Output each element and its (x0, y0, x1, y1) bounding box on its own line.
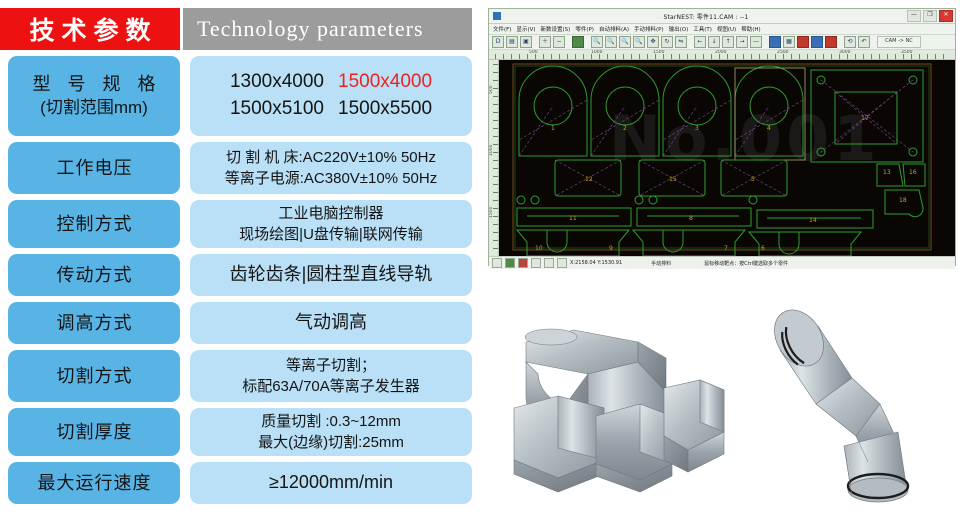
menu-item-auto-nest[interactable]: 自动排料(A) (599, 25, 629, 33)
ruler-tick (703, 54, 704, 59)
ruler-tick (493, 64, 498, 65)
title-english: Technology parameters (183, 8, 472, 50)
spec-value-line-2: 1500x5100 1500x5500 (230, 96, 432, 123)
ruler-tick (943, 54, 944, 59)
ruler-tick (493, 248, 498, 249)
toolbar-separator (839, 37, 842, 47)
lead-in-icon[interactable] (811, 36, 823, 48)
model-1500x5500: 1500x5500 (338, 96, 432, 123)
spec-label-main: 传动方式 (56, 263, 133, 287)
current-mode: 手动排料 (651, 260, 671, 267)
cad-window-title: StarNEST: 零件11.CAM : --1 (505, 12, 907, 21)
table-header-banner: 技术参数 Technology parameters (0, 8, 472, 50)
duct-products-illustration (488, 300, 956, 518)
align-left-icon[interactable]: ← (694, 36, 706, 48)
part-number: 9 (609, 245, 613, 252)
part-number: 15 (669, 176, 677, 183)
ruler-tick (493, 112, 498, 113)
spec-label-main: 控制方式 (56, 212, 133, 236)
model-1500x5100: 1500x5100 (230, 96, 324, 123)
zoom-window-icon[interactable]: 🔍 (619, 36, 631, 48)
ruler-tick (879, 54, 880, 59)
ruler-label: 3000 (839, 50, 850, 55)
ruler-tick (711, 54, 712, 59)
ruler-tick (519, 54, 520, 59)
toolbar-separator (689, 37, 692, 47)
ruler-tick (863, 54, 864, 59)
ruler-tick (807, 54, 808, 59)
rect-duct-taper-right (664, 380, 724, 472)
part-number: 4 (767, 125, 771, 132)
ruler-label: 3500 (901, 50, 912, 55)
cad-title-bar: StarNEST: 零件11.CAM : --1 — ❐ ✕ (489, 9, 955, 24)
ruler-tick (927, 54, 928, 59)
ruler-tick (791, 54, 792, 59)
part-number: 12 (585, 176, 593, 183)
ruler-label: 2500 (777, 50, 788, 55)
spec-value-line-2: 最大(边缘)切割:25mm (258, 432, 404, 453)
cad-toolbar: D ▤ ▣ ＋ − 🔍 🔍 🔍 🔍 ✥ ↻ ⇋ ← ↓ ↑ → — ▦ (489, 35, 955, 50)
ruler-label: 1000 (489, 145, 494, 156)
new-file-icon[interactable]: D (492, 36, 504, 48)
close-icon[interactable]: ✕ (939, 10, 953, 22)
part-number: 14 (809, 217, 817, 224)
spec-label-cell: 切割方式 (8, 350, 180, 402)
ruler-label: 2000 (715, 50, 726, 55)
menu-item-view[interactable]: 视图(U) (717, 25, 736, 33)
spec-label-sub: (切割范围mm) (40, 97, 148, 120)
zoom-out-icon[interactable]: 🔍 (605, 36, 617, 48)
ruler-tick (493, 80, 498, 81)
part-number: 13 (883, 169, 891, 176)
ruler-tick (831, 54, 832, 59)
menu-item-manual-nest[interactable]: 手动排料(P) (634, 25, 664, 33)
ruler-tick (855, 54, 856, 59)
status-icon-ortho[interactable] (531, 258, 541, 268)
spec-row-max-speed: 最大运行速度 ≥12000mm/min (0, 462, 472, 504)
part-number: 7 (724, 245, 728, 252)
ruler-tick (493, 104, 498, 105)
spec-value-cell: 1300x4000 1500x4000 1500x5100 1500x5500 (190, 56, 472, 136)
ruler-tick (559, 54, 560, 59)
model-1300x4000: 1300x4000 (230, 69, 324, 96)
ruler-tick (493, 224, 498, 225)
add-icon[interactable]: ＋ (539, 36, 551, 48)
zoom-in-icon[interactable]: 🔍 (591, 36, 603, 48)
part-number: 3 (695, 125, 699, 132)
ruler-tick (799, 54, 800, 59)
spec-row-transmission: 传动方式 齿轮齿条|圆柱型直线导轨 (0, 254, 472, 296)
align-right-icon[interactable]: → (736, 36, 748, 48)
ruler-tick (493, 120, 498, 121)
toolbar-separator (567, 37, 570, 47)
spec-row-height-adjust: 调高方式 气动调高 (0, 302, 472, 344)
align-down-icon[interactable]: ↓ (708, 36, 720, 48)
cad-software-window: StarNEST: 零件11.CAM : --1 — ❐ ✕ 文件(F) 显示(… (488, 8, 956, 266)
ruler-tick (511, 54, 512, 59)
ruler-tick (493, 72, 498, 73)
open-file-icon[interactable]: ▤ (506, 36, 518, 48)
cam-to-nc-button[interactable]: CAM -> NC (877, 36, 921, 48)
spec-label-cell: 控制方式 (8, 200, 180, 248)
ruler-tick (695, 54, 696, 59)
menu-item-tools[interactable]: 工具(T) (693, 25, 712, 33)
status-icon-zoom[interactable] (557, 258, 567, 268)
menu-item-new-settings[interactable]: 新数设置(S) (541, 25, 571, 33)
spec-value-cell: 切 割 机 床:AC220V±10% 50Hz 等离子电源:AC380V±10%… (190, 142, 472, 194)
spec-value-line-2: 等离子电源:AC380V±10% 50Hz (225, 168, 437, 189)
minimize-icon[interactable]: — (907, 10, 921, 22)
spec-value-line-1: 工业电脑控制器 (278, 203, 383, 224)
status-icon-grid[interactable] (505, 258, 515, 268)
spec-value-cell: 质量切割 :0.3~12mm 最大(边缘)切割:25mm (190, 408, 472, 456)
spec-row-cutting-thickness: 切割厚度 质量切割 :0.3~12mm 最大(边缘)切割:25mm (0, 408, 472, 456)
ruler-tick (727, 54, 728, 59)
ruler-tick (493, 136, 498, 137)
ruler-tick (767, 54, 768, 59)
align-up-icon[interactable]: ↑ (722, 36, 734, 48)
spec-sheet-page: 技术参数 Technology parameters 型 号 规 格 (切割范围… (0, 0, 960, 524)
ruler-tick (493, 96, 498, 97)
ruler-tick (493, 192, 498, 193)
toolbar-separator (764, 37, 767, 47)
ruler-tick (493, 128, 498, 129)
nest-array-icon[interactable] (769, 36, 781, 48)
rotate-icon[interactable]: ↻ (661, 36, 673, 48)
cad-status-bar: X:2158.04 Y:1530.91 手动排料 鼠标移动靶点：按Ctrl键选取… (489, 256, 955, 269)
status-icon-snap[interactable] (518, 258, 528, 268)
ruler-tick (495, 54, 496, 59)
spec-row-model: 型 号 规 格 (切割范围mm) 1300x4000 1500x4000 150… (0, 56, 472, 136)
spec-label-cell: 工作电压 (8, 142, 180, 194)
measure-icon[interactable]: ⟲ (844, 36, 856, 48)
ruler-tick (493, 200, 498, 201)
ruler-tick (775, 54, 776, 59)
spec-value-cell: 气动调高 (190, 302, 472, 344)
spec-label-cell: 调高方式 (8, 302, 180, 344)
ruler-tick (639, 54, 640, 59)
ruler-tick (759, 54, 760, 59)
menu-item-file[interactable]: 文件(F) (493, 25, 511, 33)
ruler-tick (887, 54, 888, 59)
spec-label-cell: 切割厚度 (8, 408, 180, 456)
horizontal-ruler: 500100015002000250030003500 (489, 50, 955, 60)
ruler-tick (607, 54, 608, 59)
ruler-tick (871, 54, 872, 59)
toolbar-separator (586, 37, 589, 47)
spec-value-line-1: ≥12000mm/min (269, 470, 393, 495)
part-color-icon[interactable] (797, 36, 809, 48)
ruler-tick (679, 54, 680, 59)
ruler-tick (895, 54, 896, 59)
rect-duct-square-center (596, 404, 672, 492)
spec-label-main: 切割厚度 (56, 420, 133, 444)
ruler-label: 1500 (489, 207, 494, 218)
ruler-label: 1000 (591, 50, 602, 55)
remove-icon[interactable]: − (553, 36, 565, 48)
part-number: 8 (689, 215, 693, 222)
maximize-icon[interactable]: ❐ (923, 10, 937, 22)
window-controls: — ❐ ✕ (907, 10, 953, 22)
ruler-tick (567, 54, 568, 59)
part-number: 5 (751, 176, 755, 183)
part-number: 6 (761, 245, 765, 252)
ruler-tick (671, 54, 672, 59)
menu-item-help[interactable]: 帮助(H) (741, 25, 760, 33)
vertical-ruler: 50010001500 (489, 60, 499, 256)
ruler-tick (623, 54, 624, 59)
spec-label-main: 切割方式 (56, 364, 133, 388)
toolbar-separator (872, 37, 875, 47)
spec-label-main: 调高方式 (56, 311, 133, 335)
ruler-label: 500 (489, 85, 494, 94)
ruler-label: 500 (529, 50, 538, 55)
cad-menu-bar: 文件(F) 显示(V) 新数设置(S) 零件(P) 自动排料(A) 手动排料(P… (489, 24, 955, 35)
ruler-tick (751, 54, 752, 59)
ruler-tick (615, 54, 616, 59)
ruler-label: 1500 (653, 50, 664, 55)
part-number: 17 (861, 115, 869, 122)
ruler-tick (493, 232, 498, 233)
spec-label-main: 最大运行速度 (37, 471, 152, 495)
round-duct-elbow (764, 301, 908, 502)
ruler-tick (743, 54, 744, 59)
ruler-tick (687, 54, 688, 59)
specification-panel: 技术参数 Technology parameters 型 号 规 格 (切割范围… (0, 0, 482, 524)
grid-icon[interactable]: ▦ (783, 36, 795, 48)
spec-label-cell: 传动方式 (8, 254, 180, 296)
menu-item-part[interactable]: 零件(P) (575, 25, 594, 33)
status-icon-osnap[interactable] (544, 258, 554, 268)
zoom-fit-icon[interactable]: 🔍 (633, 36, 645, 48)
part-number: 16 (909, 169, 917, 176)
lead-out-icon[interactable] (825, 36, 837, 48)
toolbar-separator (534, 37, 537, 47)
pan-icon[interactable]: ✥ (647, 36, 659, 48)
part-number: 18 (899, 197, 907, 204)
ruler-tick (493, 240, 498, 241)
ruler-tick (493, 184, 498, 185)
rect-duct-square-left (514, 396, 604, 492)
ruler-tick (631, 54, 632, 59)
spec-value-line-1: 气动调高 (295, 310, 367, 335)
cad-workspace: 50010001500 No.001 (489, 60, 955, 256)
ruler-tick (919, 54, 920, 59)
spec-value-cell: 等离子切割； 标配63A/70A等离子发生器 (190, 350, 472, 402)
ruler-tick (647, 54, 648, 59)
spec-value-line-1: 切 割 机 床:AC220V±10% 50Hz (226, 147, 436, 168)
spec-value-line-2: 标配63A/70A等离子发生器 (242, 376, 420, 397)
ruler-tick (735, 54, 736, 59)
ruler-tick (493, 160, 498, 161)
ruler-tick (493, 168, 498, 169)
spec-value-line-1: 齿轮齿条|圆柱型直线导轨 (230, 262, 433, 287)
spec-row-cutting-method: 切割方式 等离子切割； 标配63A/70A等离子发生器 (0, 350, 472, 402)
undo-icon[interactable]: ↶ (858, 36, 870, 48)
spec-row-control: 控制方式 工业电脑控制器 现场绘图|U盘传输|联网传输 (0, 200, 472, 248)
spec-rows: 型 号 规 格 (切割范围mm) 1300x4000 1500x4000 150… (0, 56, 472, 510)
product-photos (488, 300, 956, 518)
spec-value-cell: 齿轮齿条|圆柱型直线导轨 (190, 254, 472, 296)
mirror-icon[interactable]: ⇋ (675, 36, 687, 48)
sheet-icon[interactable] (572, 36, 584, 48)
spec-value-line-1: 质量切割 :0.3~12mm (261, 411, 401, 432)
status-hint: 鼠标移动靶点：按Ctrl键选取多个零件 (704, 260, 788, 267)
spec-row-voltage: 工作电压 切 割 机 床:AC220V±10% 50Hz 等离子电源:AC380… (0, 142, 472, 194)
spec-value-cell: 工业电脑控制器 现场绘图|U盘传输|联网传输 (190, 200, 472, 248)
ruler-tick (493, 176, 498, 177)
spec-value-line-2: 现场绘图|U盘传输|联网传输 (239, 224, 423, 245)
save-file-icon[interactable]: ▣ (520, 36, 532, 48)
cad-canvas[interactable]: No.001 (499, 60, 955, 256)
spec-label-main: 工作电压 (56, 156, 133, 180)
spec-value-line-1: 等离子切割； (286, 355, 376, 376)
ruler-tick (527, 54, 528, 59)
ruler-tick (935, 54, 936, 59)
ruler-tick (823, 54, 824, 59)
menu-item-display[interactable]: 显示(V) (516, 25, 535, 33)
app-icon (493, 12, 501, 20)
part-number: 1 (551, 125, 555, 132)
title-chinese: 技术参数 (0, 8, 180, 50)
ruler-tick (503, 54, 504, 59)
ruler-tick (551, 54, 552, 59)
menu-item-output[interactable]: 输出(O) (669, 25, 689, 33)
ruler-tick (815, 54, 816, 59)
ruler-tick (543, 54, 544, 59)
part-number: 11 (569, 215, 577, 222)
ruler-tick (575, 54, 576, 59)
model-1500x4000-highlight: 1500x4000 (338, 69, 432, 96)
ruler-tick (583, 54, 584, 59)
spec-label-main: 型 号 规 格 (26, 72, 161, 96)
status-icon-1[interactable] (492, 258, 502, 268)
nesting-drawing: 1 2 3 4 1 (499, 60, 949, 256)
spec-label-cell: 型 号 规 格 (切割范围mm) (8, 56, 180, 136)
part-number: 2 (623, 125, 627, 132)
spec-value-cell: ≥12000mm/min (190, 462, 472, 504)
align-center-icon[interactable]: — (750, 36, 762, 48)
spec-value-line-1: 1300x4000 1500x4000 (230, 69, 432, 96)
cursor-coordinates: X:2158.04 Y:1530.91 (570, 260, 622, 266)
part-number: 10 (535, 245, 543, 252)
spec-label-cell: 最大运行速度 (8, 462, 180, 504)
